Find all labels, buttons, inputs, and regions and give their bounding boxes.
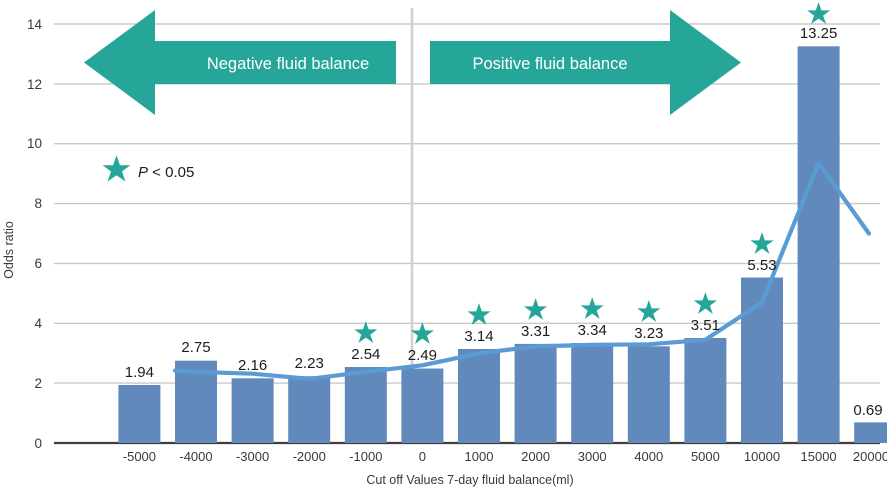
x-tick-label: 20000 xyxy=(853,449,887,464)
x-tick-label: -1000 xyxy=(349,449,382,464)
bar-value-label: 2.54 xyxy=(351,346,380,363)
y-tick-label: 12 xyxy=(27,77,42,92)
x-tick-label: -5000 xyxy=(123,449,156,464)
bar-3000[interactable] xyxy=(571,343,613,443)
chart-canvas: 14 12 10 8 6 4 2 0 Odds ratio xyxy=(0,0,887,493)
negative-arrow-label: Negative fluid balance xyxy=(207,55,369,73)
bar-2000[interactable] xyxy=(515,344,557,443)
bar-neg5000[interactable] xyxy=(118,385,160,443)
bar-value-label: 2.49 xyxy=(408,347,437,364)
bar-neg1000[interactable] xyxy=(345,367,387,443)
odds-ratio-chart: 14 12 10 8 6 4 2 0 Odds ratio xyxy=(0,0,887,493)
y-tick-label: 0 xyxy=(34,436,42,451)
bar-value-label: 13.25 xyxy=(800,25,838,42)
y-tick-label: 14 xyxy=(27,17,43,32)
y-tick-label: 2 xyxy=(34,376,42,391)
bar-value-label: 2.23 xyxy=(295,355,324,372)
bar-15000[interactable] xyxy=(798,46,840,443)
y-tick-label: 6 xyxy=(34,256,42,271)
bar-value-label: 1.94 xyxy=(125,364,154,381)
x-tick-label: -2000 xyxy=(293,449,326,464)
bar-4000[interactable] xyxy=(628,346,670,443)
x-tick-label: 3000 xyxy=(578,449,607,464)
legend-p-text: < 0.05 xyxy=(148,164,194,181)
y-tick-label: 10 xyxy=(27,136,42,151)
bar-value-label: 3.23 xyxy=(634,325,663,342)
x-tick-label: 0 xyxy=(419,449,426,464)
x-tick-label: 5000 xyxy=(691,449,720,464)
y-axis-title: Odds ratio xyxy=(2,221,16,279)
bar-5000[interactable] xyxy=(684,338,726,443)
bar-value-label: 3.31 xyxy=(521,323,550,340)
bar-1000[interactable] xyxy=(458,349,500,443)
bar-value-label: 3.14 xyxy=(464,328,493,345)
x-tick-label: 1000 xyxy=(465,449,494,464)
x-tick-label: -3000 xyxy=(236,449,269,464)
x-tick-label: 2000 xyxy=(521,449,550,464)
y-tick-label: 4 xyxy=(34,316,42,331)
legend-p-symbol: P xyxy=(138,164,148,181)
positive-arrow-label: Positive fluid balance xyxy=(472,55,627,73)
bar-value-label: 3.51 xyxy=(691,317,720,334)
x-tick-label: 15000 xyxy=(801,449,837,464)
legend-p-value-label: P < 0.05 xyxy=(138,164,194,181)
x-tick-label: -4000 xyxy=(179,449,212,464)
bar-value-label: 2.75 xyxy=(181,339,210,356)
bar-value-label: 0.69 xyxy=(853,402,882,419)
bar-20000[interactable] xyxy=(854,422,887,443)
bar-0[interactable] xyxy=(401,369,443,444)
x-tick-label: 10000 xyxy=(744,449,780,464)
bar-neg2000[interactable] xyxy=(288,376,330,443)
x-tick-label: 4000 xyxy=(634,449,663,464)
bar-neg3000[interactable] xyxy=(232,378,274,443)
y-tick-label: 8 xyxy=(34,196,42,211)
x-axis-title: Cut off Values 7-day fluid balance(ml) xyxy=(366,473,573,487)
bar-value-label: 5.53 xyxy=(747,257,776,274)
bar-value-label: 2.16 xyxy=(238,357,267,374)
bar-value-label: 3.34 xyxy=(578,322,607,339)
